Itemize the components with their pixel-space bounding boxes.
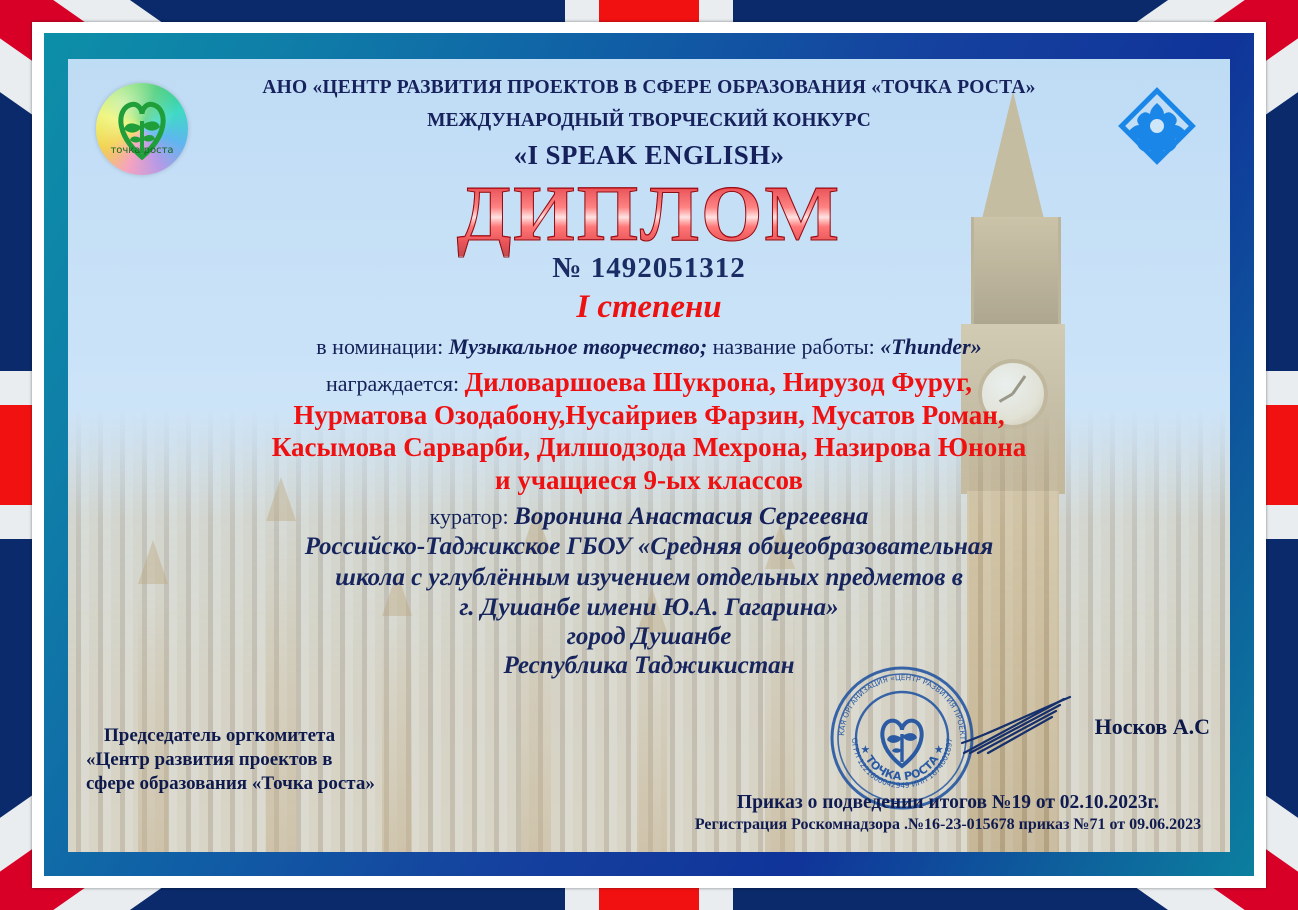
- award-label: награждается:: [326, 371, 459, 396]
- diamond-flower-icon: [1114, 83, 1200, 169]
- order-line: Приказ о подведении итогов №19 от 02.10.…: [678, 792, 1218, 814]
- order-block: Приказ о подведении итогов №19 от 02.10.…: [678, 792, 1218, 834]
- award-recipients: награждается: Диловаршоева Шукрона, Ниру…: [68, 366, 1230, 498]
- school-line-2: школа с углублённым изучением отдельных …: [68, 563, 1230, 592]
- chairman-block: Председатель оргкомитета «Центр развития…: [86, 724, 375, 796]
- curator-value: Воронина Анастасия Сергеевна: [514, 503, 868, 530]
- nomination-label: в номинации:: [316, 334, 443, 359]
- certificate-page: точка роста АНО «ЦЕНТР РАЗВИТИЯ ПРОЕКТОВ…: [0, 0, 1298, 910]
- country-line: Республика Таджикистан: [68, 651, 1230, 680]
- tochka-rosta-logo: точка роста: [96, 83, 188, 175]
- school-line-3: г. Душанбе имени Ю.А. Гагарина»: [68, 593, 1230, 622]
- signer-name: Носков А.С: [1095, 714, 1210, 740]
- diploma-number: № 1492051312: [68, 252, 1230, 285]
- chairman-line-3: сфере образования «Точка роста»: [86, 772, 375, 796]
- curator-label: куратор:: [430, 504, 509, 529]
- school-line-1: Российско-Таджикское ГБОУ «Средняя общео…: [68, 532, 1230, 561]
- pen-signature-icon: [960, 695, 1080, 757]
- diploma-title: ДИПЛОМ: [68, 175, 1230, 256]
- signature-mark: [960, 695, 1080, 757]
- registration-line: Регистрация Роскомнадзора .№16-23-015678…: [678, 816, 1218, 834]
- chairman-line-2: «Центр развития проектов в: [86, 748, 375, 772]
- recipient-names-line-3: Касымова Сарварби, Дилшодзода Мехрона, Н…: [68, 431, 1230, 464]
- certificate-canvas: точка роста АНО «ЦЕНТР РАЗВИТИЯ ПРОЕКТОВ…: [68, 59, 1230, 852]
- diploma-degree: I степени: [68, 289, 1230, 326]
- blue-gradient-frame: точка роста АНО «ЦЕНТР РАЗВИТИЯ ПРОЕКТОВ…: [44, 33, 1254, 876]
- recipient-names-line-1: Диловаршоева Шукрона, Нирузод Фуруг,: [465, 367, 972, 397]
- seal-leaf-heart-icon: [882, 721, 921, 766]
- work-label: название работы:: [713, 334, 875, 359]
- contest-name: «I SPEAK ENGLISH»: [68, 140, 1230, 171]
- curator-line: куратор: Воронина Анастасия Сергеевна: [68, 503, 1230, 531]
- contest-type: МЕЖДУНАРОДНЫЙ ТВОРЧЕСКИЙ КОНКУРС: [68, 110, 1230, 132]
- nomination-value: Музыкальное творчество;: [449, 334, 707, 359]
- work-value: «Thunder»: [880, 334, 981, 359]
- organization-title: АНО «ЦЕНТР РАЗВИТИЯ ПРОЕКТОВ В СФЕРЕ ОБР…: [149, 77, 1149, 99]
- chairman-line-1: Председатель оргкомитета: [86, 724, 375, 748]
- recipient-names-line-4: и учащиеся 9-ых классов: [68, 464, 1230, 497]
- recipient-names-line-2: Нурматова Озодабону,Нусайриев Фарзин, Му…: [68, 399, 1230, 432]
- certificate-content: точка роста АНО «ЦЕНТР РАЗВИТИЯ ПРОЕКТОВ…: [68, 59, 1230, 852]
- blue-diamond-emblem: [1114, 83, 1200, 169]
- nomination-line: в номинации: Музыкальное творчество; наз…: [68, 334, 1230, 360]
- city-line: город Душанбе: [68, 622, 1230, 651]
- logo-caption: точка роста: [110, 145, 173, 156]
- leaf-heart-icon: точка роста: [96, 83, 188, 175]
